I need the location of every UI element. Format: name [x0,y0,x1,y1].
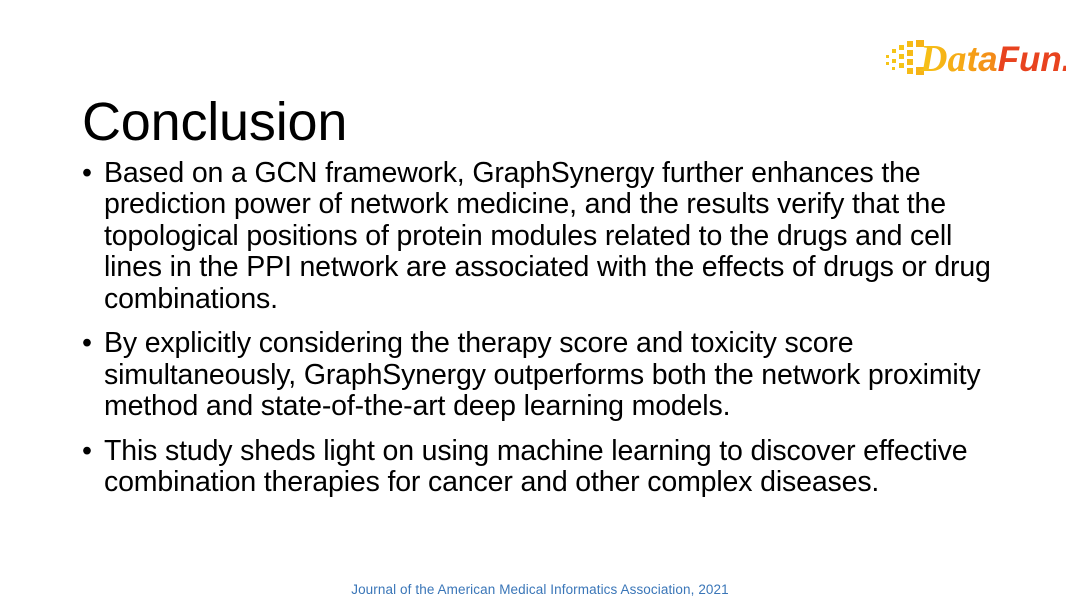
list-item: • By explicitly considering the therapy … [78,328,1008,422]
bullet-marker-icon: • [82,158,92,189]
datafun-logo: DataFun. [884,36,1066,80]
bullet-list: • Based on a GCN framework, GraphSynergy… [78,158,1008,499]
list-item: • Based on a GCN framework, GraphSynergy… [78,158,1008,315]
list-item: • This study sheds light on using machin… [78,436,1008,499]
slide-canvas: DataFun. Conclusion • Based on a GCN fra… [0,0,1080,608]
logo-wordmark: DataFun. [919,38,1066,80]
page-title: Conclusion [82,93,347,152]
list-item-text: This study sheds light on using machine … [104,436,1008,499]
bullet-marker-icon: • [82,328,92,359]
footer-citation: Journal of the American Medical Informat… [0,582,1080,597]
logo-pixels [886,40,924,75]
bullet-marker-icon: • [82,436,92,467]
list-item-text: Based on a GCN framework, GraphSynergy f… [104,158,1008,315]
list-item-text: By explicitly considering the therapy sc… [104,328,1008,422]
